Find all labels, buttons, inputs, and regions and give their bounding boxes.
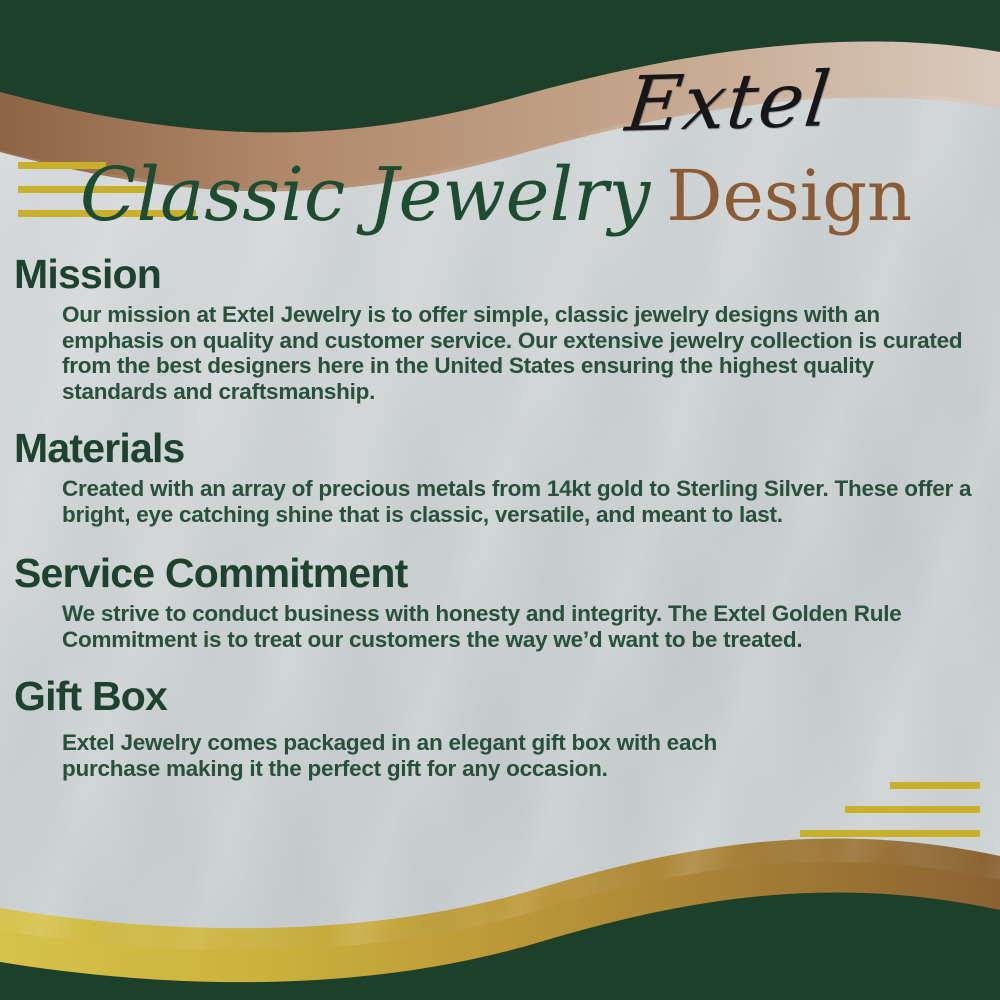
section-mission: Mission Our mission at Extel Jewelry is … [0,252,1000,404]
gold-rule-long [800,830,980,837]
section-body-materials: Created with an array of precious metals… [62,476,976,527]
section-body-mission: Our mission at Extel Jewelry is to offer… [62,302,976,404]
title-design: Design [666,155,912,237]
section-heading-materials: Materials [14,426,1000,470]
sections-list: Mission Our mission at Extel Jewelry is … [0,252,1000,795]
section-body-gift-box: Extel Jewelry comes packaged in an elega… [62,730,762,781]
section-heading-mission: Mission [14,252,1000,296]
gold-rule-short [890,782,980,789]
title-classic-jewelry: Classic Jewelry [80,152,650,238]
gold-rules-bottom-right [800,782,980,837]
section-materials: Materials Created with an array of preci… [0,426,1000,527]
gold-rule-medium [845,806,980,813]
brand-logo: Extel [622,61,835,142]
section-body-service-commitment: We strive to conduct business with hones… [62,601,976,652]
section-heading-service-commitment: Service Commitment [14,551,1000,595]
poster-canvas: Extel Classic JewelryDesign Mission Our … [0,0,1000,1000]
poster-content: Extel Classic JewelryDesign Mission Our … [0,0,1000,1000]
page-title: Classic JewelryDesign [0,152,1000,238]
section-service-commitment: Service Commitment We strive to conduct … [0,551,1000,652]
section-gift-box: Gift Box Extel Jewelry comes packaged in… [0,674,1000,781]
section-heading-gift-box: Gift Box [14,674,1000,718]
